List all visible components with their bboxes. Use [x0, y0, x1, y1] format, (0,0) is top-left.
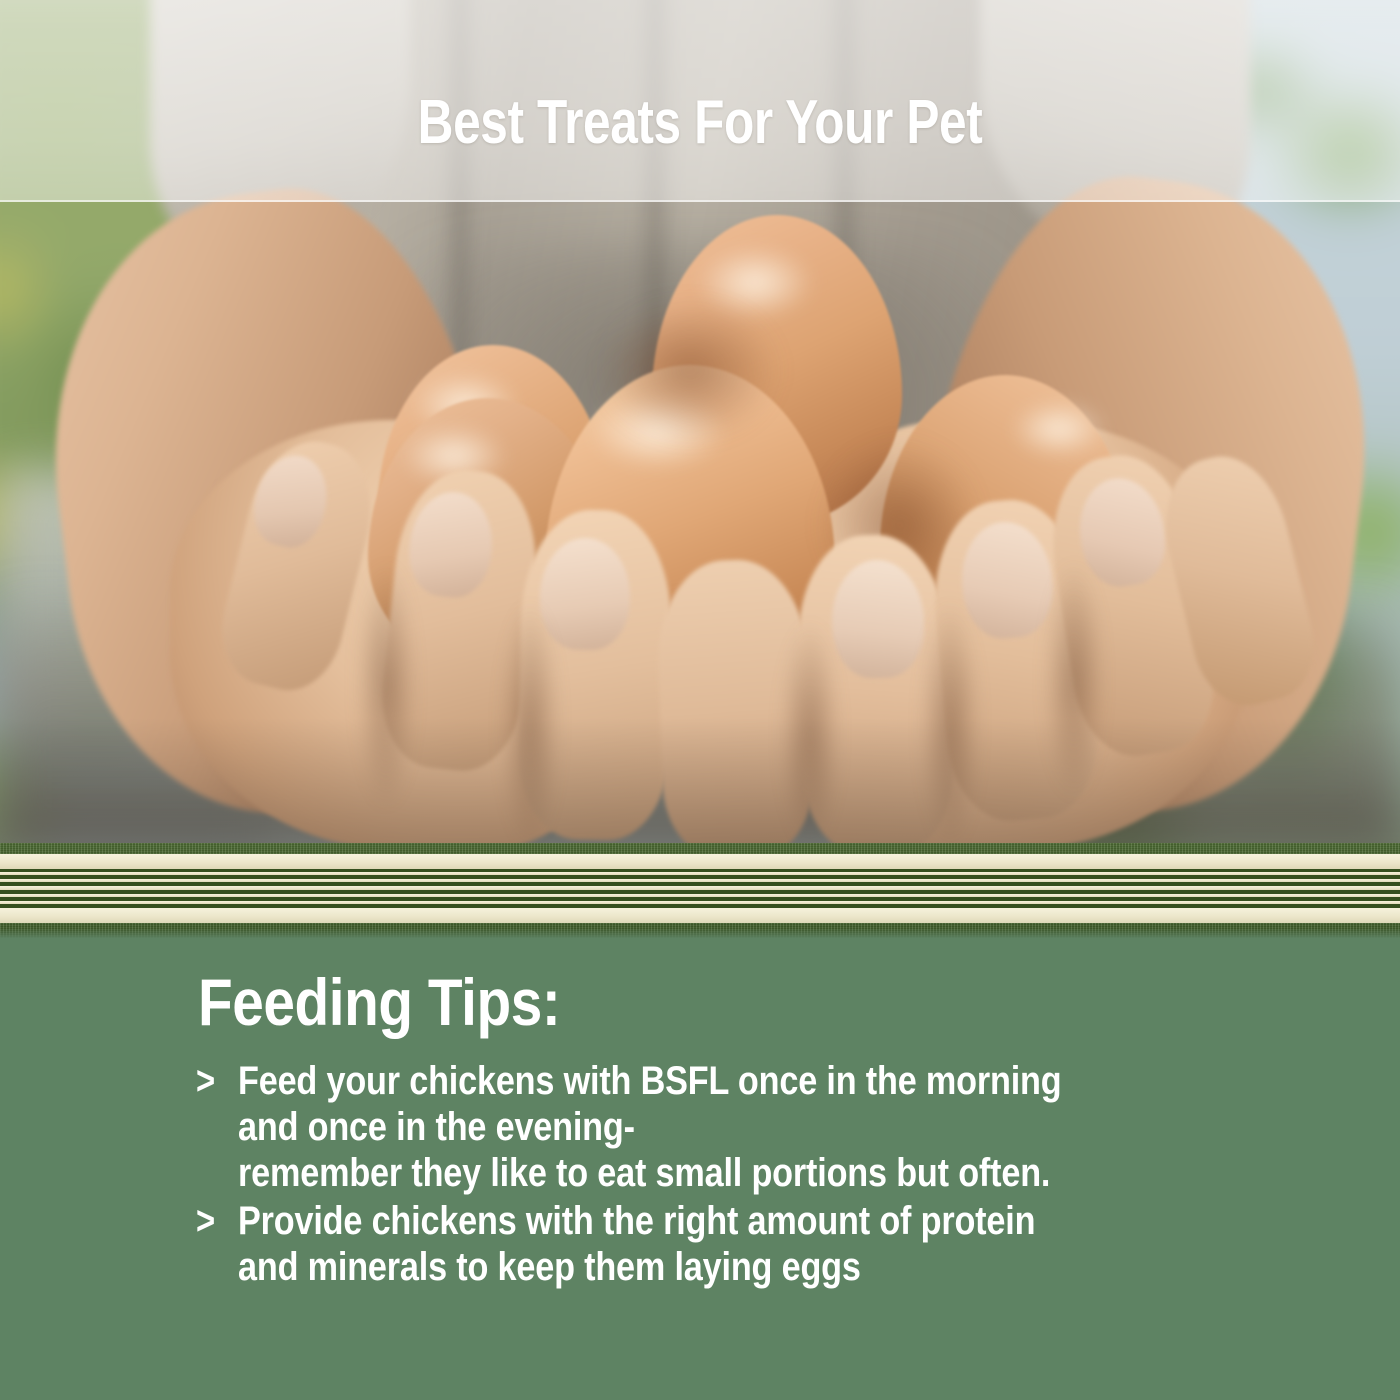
poster: Best Treats For Your Pet Feeding Tips: >…: [0, 0, 1400, 1400]
page-title: Best Treats For Your Pet: [140, 88, 1260, 158]
striped-divider: [0, 843, 1400, 938]
chevron-right-icon: >: [196, 1058, 230, 1104]
divider-bottom-fade: [0, 928, 1400, 938]
egg-highlight: [1010, 400, 1108, 458]
chevron-right-icon: >: [196, 1198, 230, 1244]
tip-line: Provide chickens with the right amount o…: [238, 1198, 1194, 1244]
tip-line: and once in the evening-: [238, 1104, 1194, 1150]
egg-contact-shadow: [600, 300, 780, 440]
tip-text: Feed your chickens with BSFL once in the…: [238, 1058, 1194, 1196]
list-item: > Feed your chickens with BSFL once in t…: [196, 1058, 1356, 1196]
feeding-tips-panel: Feeding Tips: > Feed your chickens with …: [0, 938, 1400, 1400]
photo-bottom-vignette: [0, 718, 1400, 848]
tip-line: and minerals to keep them laying eggs: [238, 1244, 1194, 1290]
tip-line: Feed your chickens with BSFL once in the…: [238, 1058, 1194, 1104]
feeding-tips-heading: Feeding Tips:: [198, 965, 560, 1039]
list-item: > Provide chickens with the right amount…: [196, 1198, 1356, 1290]
tip-text: Provide chickens with the right amount o…: [238, 1198, 1194, 1290]
tip-line: remember they like to eat small portions…: [238, 1150, 1194, 1196]
title-scrim-edge: [0, 200, 1400, 202]
divider-stripe-cream: [0, 854, 1400, 869]
hero-photo: Best Treats For Your Pet: [0, 0, 1400, 848]
feeding-tips-list: > Feed your chickens with BSFL once in t…: [196, 1058, 1356, 1292]
divider-stripe-cream: [0, 908, 1400, 923]
